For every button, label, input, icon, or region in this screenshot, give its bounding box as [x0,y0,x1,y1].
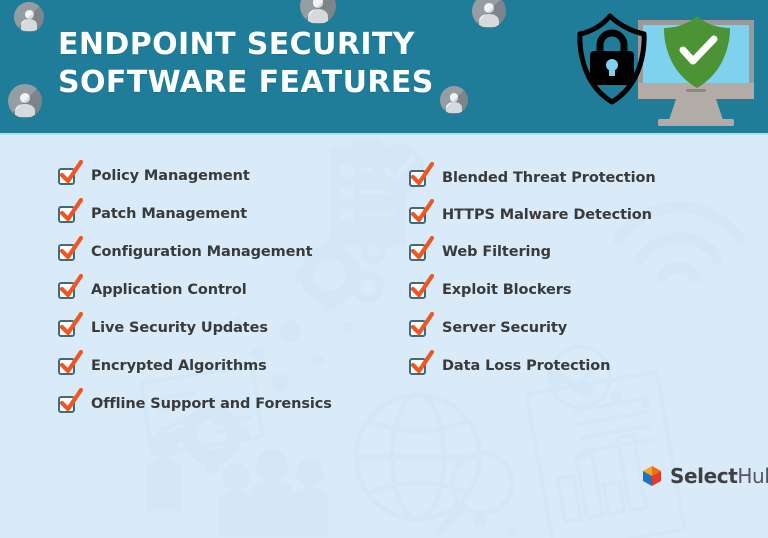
feature-item-application-control[interactable]: Application Control [58,275,247,305]
feature-label: Exploit Blockers [442,282,571,298]
check-mark-icon [57,236,83,262]
feature-item-policy-management[interactable]: Policy Management [58,161,250,191]
infographic-root: ENDPOINT SECURITY SOFTWARE FEATURES [0,0,768,538]
checkbox-checked-icon[interactable] [409,242,430,263]
hero-illustration [566,6,756,132]
checkbox-checked-icon[interactable] [58,356,79,377]
check-mark-icon [57,312,83,338]
check-mark-icon [408,312,434,338]
selecthub-logo[interactable]: SelectHub [640,464,768,488]
feature-label: Web Filtering [442,244,551,260]
logo-name-light: Hub [737,464,768,488]
selecthub-wordmark: SelectHub [670,466,768,486]
feature-label: Offline Support and Forensics [91,396,332,412]
checkbox-checked-icon[interactable] [409,318,430,339]
check-mark-icon [57,350,83,376]
checkbox-checked-icon[interactable] [58,280,79,301]
checkbox-checked-icon[interactable] [58,318,79,339]
feature-label: Policy Management [91,168,250,184]
check-mark-icon [408,199,434,225]
avatar-shade [14,2,44,32]
feature-item-offline-support-and-forensics[interactable]: Offline Support and Forensics [58,389,332,419]
feature-item-exploit-blockers[interactable]: Exploit Blockers [409,275,571,305]
lock-shield-outline-icon [580,16,644,102]
checkbox-checked-icon[interactable] [409,356,430,377]
selecthub-cube-logo [640,464,664,488]
avatar-top-center [300,0,336,24]
avatar-shade [8,84,42,118]
checkbox-checked-icon[interactable] [409,205,430,226]
feature-item-patch-management[interactable]: Patch Management [58,199,247,229]
check-mark-icon [408,274,434,300]
avatar-mid-left [8,84,42,118]
feature-label: Configuration Management [91,244,312,260]
feature-label: Blended Threat Protection [442,170,656,186]
feature-item-encrypted-algorithms[interactable]: Encrypted Algorithms [58,351,267,381]
check-mark-icon [57,198,83,224]
feature-item-server-security[interactable]: Server Security [409,313,567,343]
feature-label: Application Control [91,282,247,298]
checkbox-checked-icon[interactable] [58,242,79,263]
feature-label: Data Loss Protection [442,358,610,374]
feature-label: Patch Management [91,206,247,222]
check-mark-icon [57,274,83,300]
checkbox-checked-icon[interactable] [409,168,430,189]
checkbox-checked-icon[interactable] [58,166,79,187]
check-mark-icon [408,350,434,376]
checkbox-checked-icon[interactable] [409,280,430,301]
checkbox-checked-icon[interactable] [58,394,79,415]
check-mark-icon [57,388,83,414]
feature-label: Encrypted Algorithms [91,358,267,374]
avatar-top-right [472,0,506,28]
check-mark-icon [408,162,434,188]
feature-item-live-security-updates[interactable]: Live Security Updates [58,313,268,343]
check-mark-icon [408,236,434,262]
feature-item-https-malware-detection[interactable]: HTTPS Malware Detection [409,200,652,230]
feature-item-data-loss-protection[interactable]: Data Loss Protection [409,351,610,381]
feature-label: Live Security Updates [91,320,268,336]
avatar-top-left [14,2,44,32]
feature-item-web-filtering[interactable]: Web Filtering [409,237,551,267]
feature-item-configuration-management[interactable]: Configuration Management [58,237,312,267]
page-title: ENDPOINT SECURITY SOFTWARE FEATURES [58,26,528,102]
checkbox-checked-icon[interactable] [58,204,79,225]
header-banner: ENDPOINT SECURITY SOFTWARE FEATURES [0,0,768,135]
feature-label: Server Security [442,320,567,336]
feature-item-blended-threat-protection[interactable]: Blended Threat Protection [409,163,656,193]
avatar-shade [300,0,336,24]
logo-name-bold: Select [670,464,737,488]
avatar-shade [472,0,506,28]
check-mark-icon [57,160,83,186]
feature-label: HTTPS Malware Detection [442,207,652,223]
